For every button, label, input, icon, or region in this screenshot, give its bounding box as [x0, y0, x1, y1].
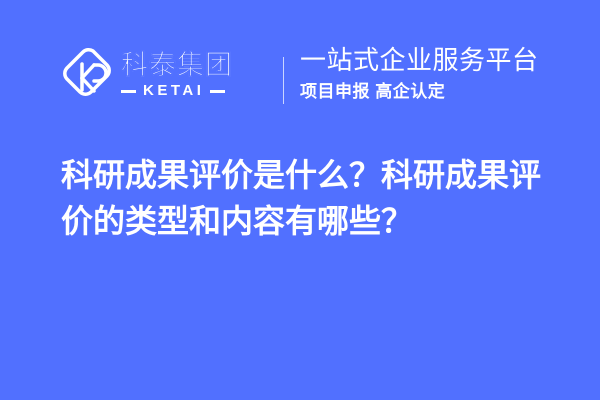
tagline-group: 一站式企业服务平台 项目申报 高企认定 — [300, 44, 560, 104]
brand-latin-row: KETAI — [121, 83, 233, 99]
banner-header: 科泰集团 KETAI 一站式企业服务平台 项目申报 高企认定 — [0, 0, 600, 140]
brand-name-latin: KETAI — [136, 83, 210, 99]
ketai-diamond-kp-logo-icon — [62, 47, 112, 103]
page-title: 科研成果评价是什么？科研成果评价的类型和内容有哪些？ — [61, 152, 571, 244]
brand-dash-right-icon — [210, 90, 225, 93]
promo-banner: 科泰集团 KETAI 一站式企业服务平台 项目申报 高企认定 科研成果评价是什么… — [0, 0, 600, 400]
brand-logo-group[interactable]: 科泰集团 KETAI — [62, 46, 233, 104]
header-vertical-divider — [283, 57, 284, 104]
tagline-secondary: 项目申报 高企认定 — [300, 80, 560, 104]
brand-name-chinese: 科泰集团 — [121, 51, 233, 80]
brand-wordmark: 科泰集团 KETAI — [121, 51, 233, 99]
brand-dash-left-icon — [121, 90, 136, 93]
tagline-primary: 一站式企业服务平台 — [300, 44, 560, 76]
